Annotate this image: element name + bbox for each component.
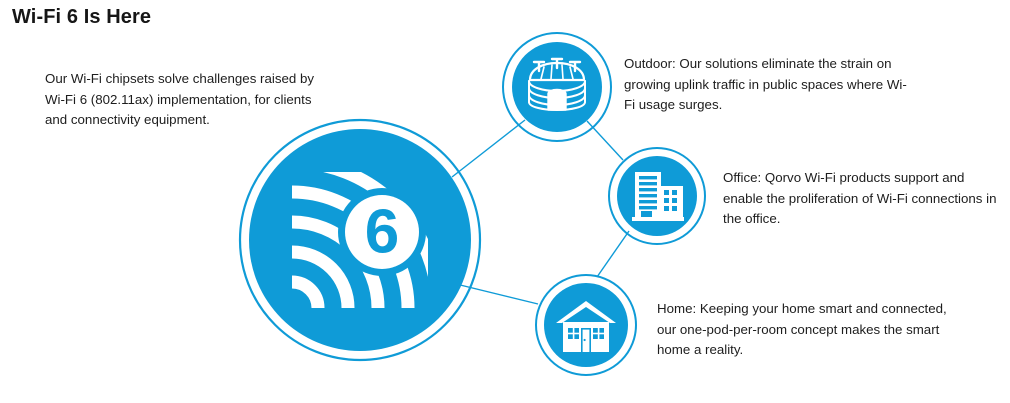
wifi-six-label: 6 (365, 198, 399, 267)
connector-lines (452, 120, 629, 304)
node-office[interactable] (609, 148, 705, 244)
hub-node-wifi6[interactable]: 6 (146, 120, 480, 403)
node-home[interactable] (536, 275, 636, 375)
office-base (632, 217, 684, 221)
stadium-entrance (548, 90, 566, 111)
network-diagram: 6 (0, 0, 1010, 403)
wifi6-infographic: Wi-Fi 6 Is Here Our Wi-Fi chipsets solve… (0, 0, 1010, 403)
outdoor-disc (512, 42, 602, 132)
connector-office-home (597, 231, 629, 277)
connector-hub-outdoor (452, 120, 525, 177)
office-door (641, 211, 652, 217)
house-door-panel (583, 330, 590, 352)
connector-hub-home (452, 283, 538, 304)
house-door-knob (584, 339, 586, 341)
node-outdoor[interactable] (503, 33, 611, 141)
